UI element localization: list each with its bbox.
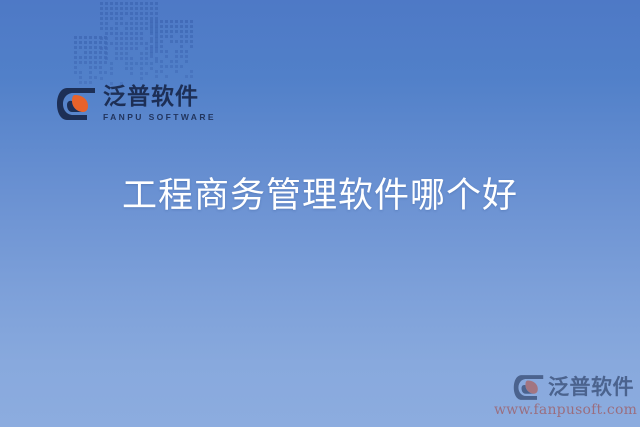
fanpu-logo-en: FANPU SOFTWARE	[103, 113, 216, 122]
fanpu-logo-mark	[56, 87, 96, 121]
slide-canvas: 泛普软件 FANPU SOFTWARE 工程商务管理软件哪个好 泛普软件 www…	[0, 0, 640, 427]
fanpu-logo: 泛普软件 FANPU SOFTWARE	[56, 86, 216, 122]
site-watermark: 泛普软件 www.fanpusoft.com	[494, 374, 634, 417]
page-title: 工程商务管理软件哪个好	[0, 176, 640, 217]
fanpu-watermark-mark	[513, 374, 544, 401]
watermark-cn: 泛普软件	[548, 377, 634, 398]
pixel-skyline-pattern	[74, 0, 182, 92]
watermark-logo-row: 泛普软件	[494, 374, 634, 401]
watermark-url: www.fanpusoft.com	[494, 403, 634, 417]
fanpu-logo-cn: 泛普软件	[103, 86, 216, 109]
fanpu-logo-wordmark: 泛普软件 FANPU SOFTWARE	[103, 86, 216, 122]
